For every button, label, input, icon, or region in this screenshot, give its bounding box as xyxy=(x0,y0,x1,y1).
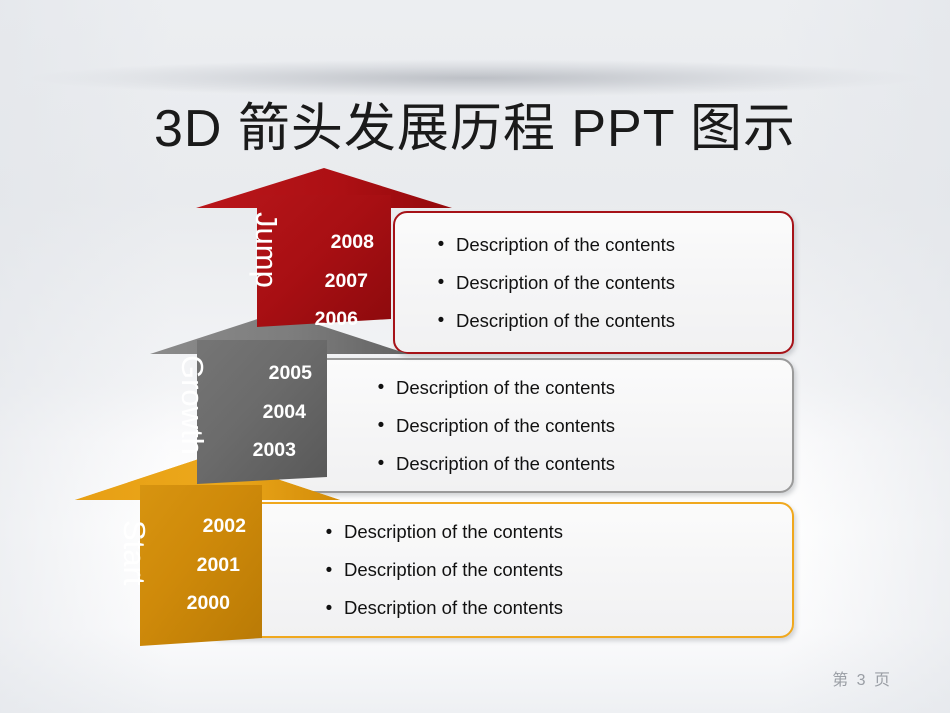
stage-label-jump: Jump xyxy=(251,212,282,288)
year-label: 2005 xyxy=(222,364,312,384)
year-label: 2003 xyxy=(222,441,312,461)
year-label: 2000 xyxy=(156,594,246,614)
stage-label-start: Start xyxy=(119,520,150,585)
year-label: 2002 xyxy=(156,517,246,537)
stage-label-growth: Growth xyxy=(177,355,208,455)
year-label: 2006 xyxy=(284,310,374,330)
year-label: 2008 xyxy=(284,233,374,253)
year-list-growth: 2005 2004 2003 xyxy=(222,364,312,461)
year-label: 2007 xyxy=(284,272,374,292)
page-number: 第 3 页 xyxy=(832,666,892,690)
year-list-start: 2002 2001 2000 xyxy=(156,517,246,614)
year-list-jump: 2008 2007 2006 xyxy=(284,233,374,330)
slide-canvas: 3D 箭头发展历程 PPT 图示 • Description of the co… xyxy=(0,0,950,713)
year-label: 2004 xyxy=(222,403,312,423)
page-title: 3D 箭头发展历程 PPT 图示 xyxy=(0,86,950,161)
year-label: 2001 xyxy=(156,556,246,576)
